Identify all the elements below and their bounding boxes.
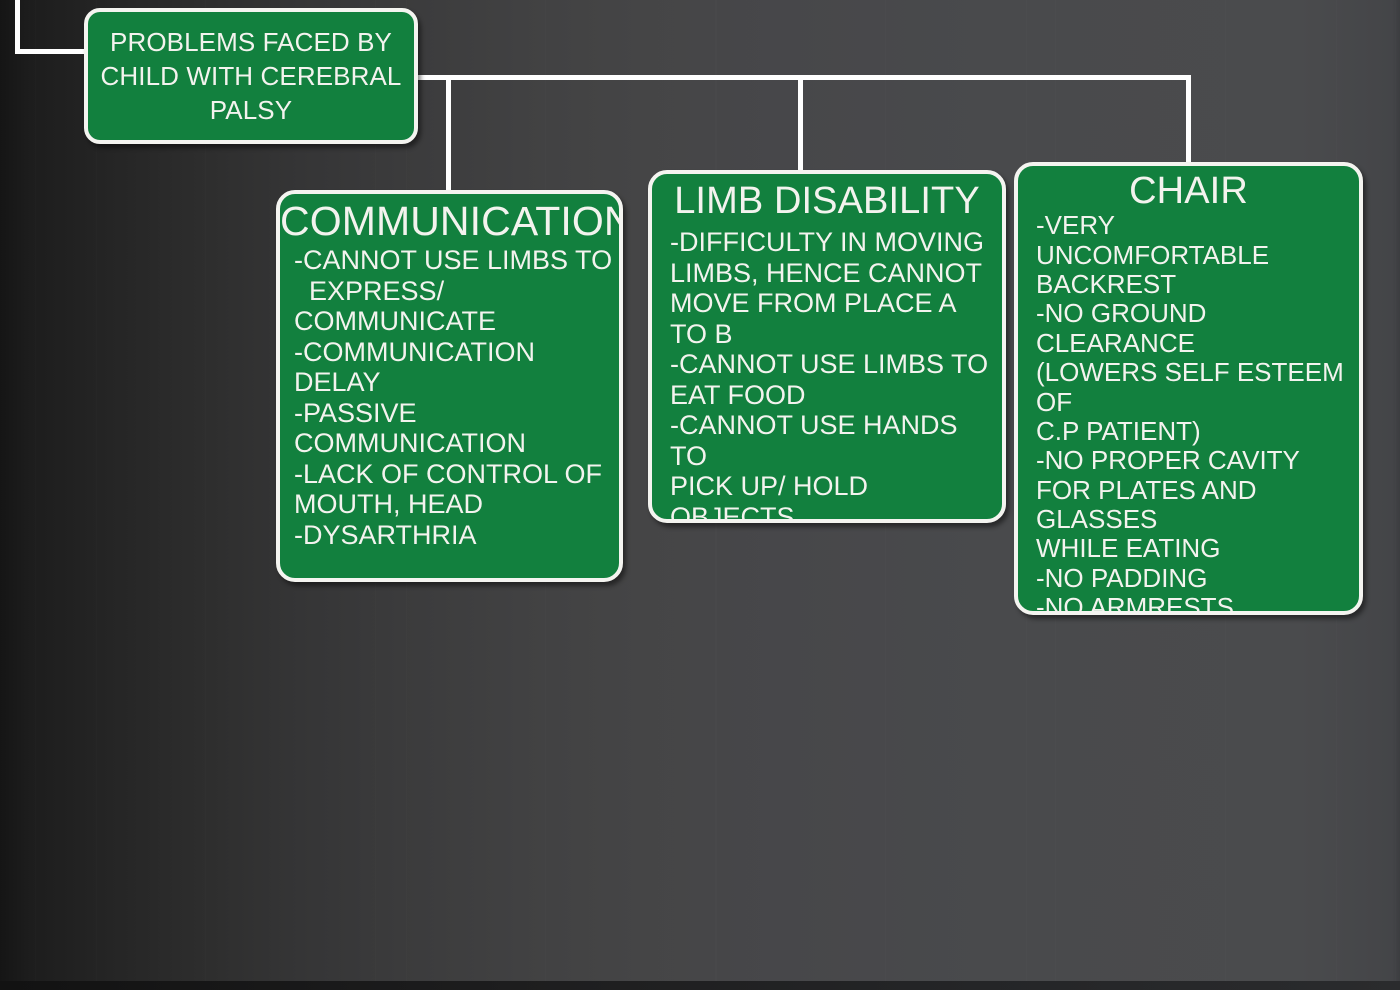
list-item: -LACK OF CONTROL OF MOUTH, HEAD <box>294 459 613 520</box>
node-chair-title: CHAIR <box>1018 171 1359 211</box>
list-item: -CANNOT USE HANDS TO PICK UP/ HOLD OBJEC… <box>670 410 996 523</box>
node-root-label: PROBLEMS FACED BY CHILD WITH CEREBRAL PA… <box>88 25 414 128</box>
connector-branch-communication <box>446 75 451 192</box>
list-item: -NO ARMRESTS <box>1036 593 1353 615</box>
connector-root-left-horizontal <box>15 49 87 54</box>
list-item: -VERY UNCOMFORTABLE BACKREST <box>1036 211 1353 299</box>
node-root[interactable]: PROBLEMS FACED BY CHILD WITH CEREBRAL PA… <box>84 8 418 144</box>
list-item: -PASSIVE COMMUNICATION <box>294 398 613 459</box>
list-item: -NO PROPER CAVITY FOR PLATES AND GLASSES… <box>1036 446 1353 564</box>
connector-branch-chair <box>1186 75 1191 165</box>
node-communication-list: -CANNOT USE LIMBS TO EXPRESS/ COMMUNICAT… <box>280 245 619 550</box>
node-limb-disability-list: -DIFFICULTY IN MOVING LIMBS, HENCE CANNO… <box>652 227 1002 523</box>
node-limb-disability[interactable]: LIMB DISABILITY -DIFFICULTY IN MOVING LI… <box>648 170 1006 523</box>
connector-root-left-vertical <box>15 0 20 53</box>
node-communication[interactable]: COMMUNICATION -CANNOT USE LIMBS TO EXPRE… <box>276 190 623 582</box>
list-item: -CANNOT USE LIMBS TO EAT FOOD <box>670 349 996 410</box>
node-chair-list: -VERY UNCOMFORTABLE BACKREST -NO GROUND … <box>1018 211 1359 615</box>
node-limb-disability-title: LIMB DISABILITY <box>652 181 1002 221</box>
diagram-canvas: PROBLEMS FACED BY CHILD WITH CEREBRAL PA… <box>0 0 1400 990</box>
list-item: -DYSARTHRIA <box>294 520 613 551</box>
list-item: -CANNOT USE LIMBS TO EXPRESS/ COMMUNICAT… <box>294 245 613 337</box>
list-item: -NO GROUND CLEARANCE (LOWERS SELF ESTEEM… <box>1036 299 1353 446</box>
node-communication-title: COMMUNICATION <box>280 200 619 243</box>
list-item: -COMMUNICATION DELAY <box>294 337 613 398</box>
bottom-edge-band <box>0 981 1400 990</box>
node-chair[interactable]: CHAIR -VERY UNCOMFORTABLE BACKREST -NO G… <box>1014 162 1363 615</box>
connector-branch-limb-disability <box>798 75 803 172</box>
list-item: -NO PADDING <box>1036 564 1353 593</box>
list-item: -DIFFICULTY IN MOVING LIMBS, HENCE CANNO… <box>670 227 996 349</box>
